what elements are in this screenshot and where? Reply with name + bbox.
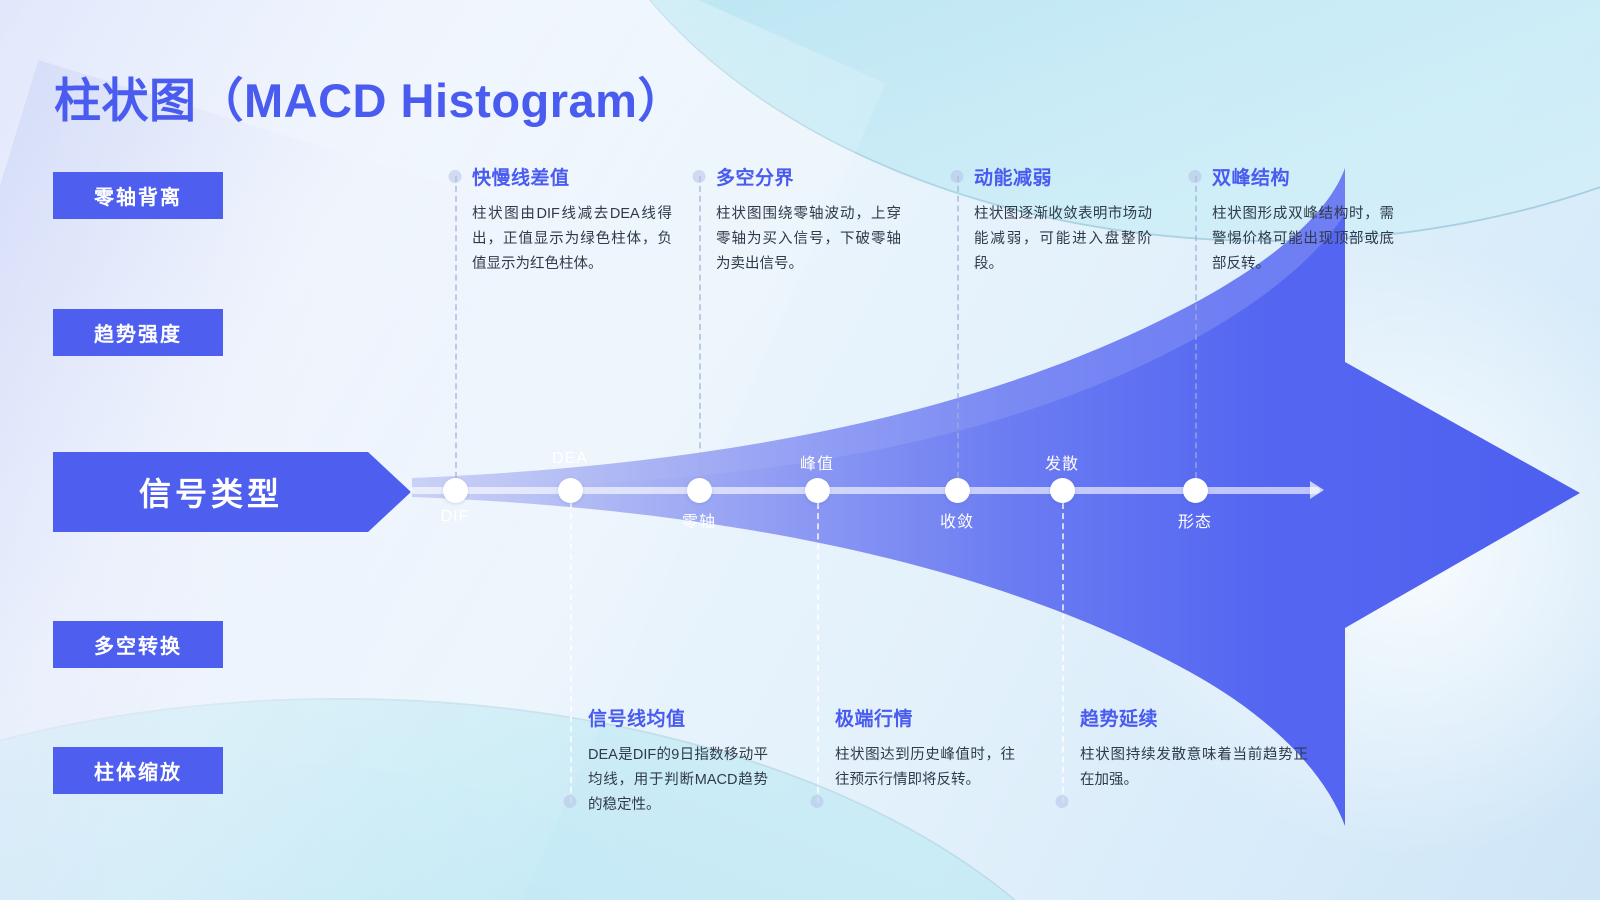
sidebar-item-label: 零轴背离 — [94, 181, 182, 210]
annotation-card-bottom-2: 极端行情 柱状图达到历史峰值时，往往预示行情即将反转。 — [835, 704, 1015, 793]
annotation-card-top-3: 动能减弱 柱状图逐渐收敛表明市场动能减弱，可能进入盘整阶段。 — [974, 163, 1152, 277]
annotation-heading: 趋势延续 — [1080, 704, 1308, 731]
annotation-card-bottom-1: 信号线均值 DEA是DIF的9日指数移动平均线，用于判断MACD趋势的稳定性。 — [588, 704, 768, 818]
annotation-body: 柱状图由DIF线减去DEA线得出，正值显示为绿色柱体，负值显示为红色柱体。 — [472, 202, 672, 277]
annotation-card-top-2: 多空分界 柱状图围绕零轴波动，上穿零轴为买入信号，下破零轴为卖出信号。 — [716, 163, 901, 277]
sidebar-item-label: 趋势强度 — [94, 318, 182, 347]
timeline-node-label-pattern: 形态 — [1178, 508, 1212, 532]
annotation-body: 柱状图围绕零轴波动，上穿零轴为买入信号，下破零轴为卖出信号。 — [716, 202, 901, 277]
sidebar-item-label: 柱体缩放 — [94, 756, 182, 785]
annotation-body: 柱状图逐渐收敛表明市场动能减弱，可能进入盘整阶段。 — [974, 202, 1152, 277]
annotation-card-top-1: 快慢线差值 柱状图由DIF线减去DEA线得出，正值显示为绿色柱体，负值显示为红色… — [472, 163, 672, 277]
annotation-card-top-4: 双峰结构 柱状图形成双峰结构时，需警惕价格可能出现顶部或底部反转。 — [1212, 163, 1394, 277]
timeline-node-label-convergence: 收敛 — [940, 508, 974, 532]
timeline-node-label-zero-axis: 零轴 — [682, 508, 716, 532]
timeline-node-peak[interactable] — [805, 478, 830, 503]
sidebar-item-trend-strength[interactable]: 趋势强度 — [53, 309, 223, 356]
sidebar-item-long-short-switch[interactable]: 多空转换 — [53, 621, 223, 668]
timeline-node-pattern[interactable] — [1183, 478, 1208, 503]
timeline-node-label-dif: DIF — [441, 508, 470, 526]
connector-dashed-top-3 — [957, 176, 959, 478]
annotation-heading: 动能减弱 — [974, 163, 1152, 190]
timeline-node-label-peak: 峰值 — [800, 450, 834, 474]
timeline-node-label-divergence: 发散 — [1045, 450, 1079, 474]
annotation-body: 柱状图达到历史峰值时，往往预示行情即将反转。 — [835, 743, 1015, 793]
annotation-heading: 多空分界 — [716, 163, 901, 190]
sidebar-item-bar-scaling[interactable]: 柱体缩放 — [53, 747, 223, 794]
connector-dashed-bottom-2 — [817, 503, 819, 803]
connector-dashed-top-2 — [699, 176, 701, 478]
infographic-canvas: 柱状图（MACD Histogram） 零轴背离 趋势强度 多空转换 柱体缩放 … — [0, 0, 1600, 900]
connector-dot-top-4 — [1189, 170, 1202, 183]
annotation-body: DEA是DIF的9日指数移动平均线，用于判断MACD趋势的稳定性。 — [588, 743, 768, 818]
connector-dashed-bottom-3 — [1062, 503, 1064, 803]
connector-dashed-bottom-1 — [570, 503, 572, 803]
page-title: 柱状图（MACD Histogram） — [54, 62, 685, 131]
signal-type-banner[interactable]: 信号类型 — [53, 452, 411, 532]
connector-dot-top-1 — [449, 170, 462, 183]
timeline-node-dea[interactable] — [558, 478, 583, 503]
connector-dot-bottom-1 — [564, 795, 577, 808]
connector-dot-bottom-2 — [811, 795, 824, 808]
annotation-body: 柱状图持续发散意味着当前趋势正在加强。 — [1080, 743, 1308, 793]
timeline-node-convergence[interactable] — [945, 478, 970, 503]
annotation-heading: 双峰结构 — [1212, 163, 1394, 190]
connector-dot-top-2 — [693, 170, 706, 183]
timeline-node-zero-axis[interactable] — [687, 478, 712, 503]
timeline-node-divergence[interactable] — [1050, 478, 1075, 503]
timeline-node-dif[interactable] — [443, 478, 468, 503]
banner-label: 信号类型 — [53, 452, 411, 532]
annotation-heading: 极端行情 — [835, 704, 1015, 731]
timeline-node-label-dea: DEA — [552, 450, 588, 468]
annotation-heading: 快慢线差值 — [472, 163, 672, 190]
connector-dot-bottom-3 — [1056, 795, 1069, 808]
sidebar-item-zero-axis-divergence[interactable]: 零轴背离 — [53, 172, 223, 219]
connector-dashed-top-1 — [455, 176, 457, 478]
connector-dot-top-3 — [951, 170, 964, 183]
annotation-card-bottom-3: 趋势延续 柱状图持续发散意味着当前趋势正在加强。 — [1080, 704, 1308, 793]
sidebar-item-label: 多空转换 — [94, 630, 182, 659]
connector-dashed-top-4 — [1195, 176, 1197, 478]
timeline-axis-arrow-icon — [1310, 481, 1324, 499]
annotation-heading: 信号线均值 — [588, 704, 768, 731]
annotation-body: 柱状图形成双峰结构时，需警惕价格可能出现顶部或底部反转。 — [1212, 202, 1394, 277]
